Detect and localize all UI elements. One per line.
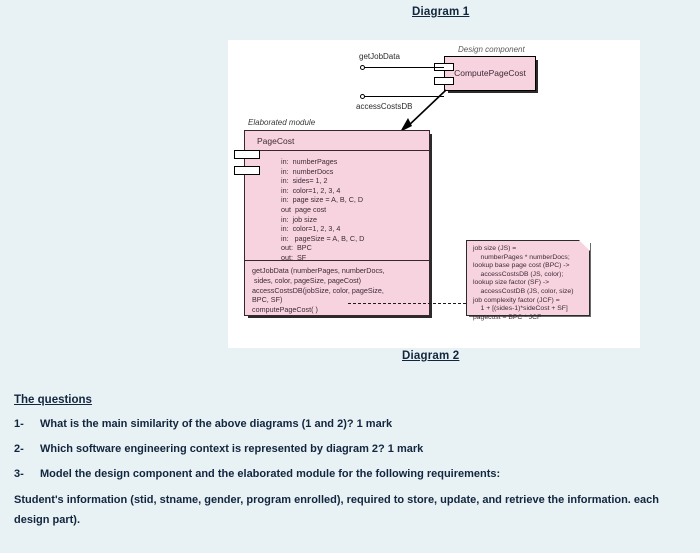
attribute-line: in: page size = A, B, C, D: [281, 195, 429, 205]
interface-socket-accesscostsdb: [360, 94, 365, 99]
question-3-requirements-paragraph: Student's information (stid, stname, gen…: [14, 490, 690, 530]
question-text: What is the main similarity of the above…: [40, 418, 392, 430]
operation-line: sides, color, pageSize, pageCost): [252, 276, 429, 286]
operation-line: computePageCost( ): [252, 305, 429, 315]
interface-socket-getjobdata: [360, 65, 365, 70]
refinement-arrow-icon: [398, 88, 450, 134]
elaborated-module-name: PageCost: [257, 136, 294, 146]
attribute-line: in: color=1, 2, 3, 4: [281, 224, 429, 234]
component-port-bottom: [434, 77, 454, 85]
diagram-canvas: Design component ComputePageCost getJobD…: [228, 40, 640, 348]
question-number: 2-: [14, 443, 40, 455]
question-text: Model the design component and the elabo…: [40, 468, 500, 480]
elaborated-module-box[interactable]: PageCost in: numberPages in: numberDocs …: [244, 130, 430, 316]
attribute-line: in: numberPages: [281, 157, 429, 167]
attribute-line: in: color=1, 2, 3, 4: [281, 186, 429, 196]
note-anchor-dashed-line: [348, 303, 466, 304]
module-port-bottom: [234, 166, 260, 175]
diagram-2-caption: Diagram 2: [402, 350, 459, 362]
question-number: 1-: [14, 418, 40, 430]
interface-label-getjobdata: getJobData: [359, 52, 400, 61]
design-component-box[interactable]: ComputePageCost: [444, 56, 536, 91]
note-fold-corner-icon: [579, 240, 590, 251]
note-line: lookup base page cost (BPC) ->: [473, 262, 586, 271]
design-component-stereotype-label: Design component: [458, 45, 525, 54]
operation-line: accessCostsDB(jobSize, color, pageSize,: [252, 286, 429, 296]
algorithm-note-box[interactable]: job size (JS) = numberPages * numberDocs…: [466, 240, 590, 316]
questions-heading: The questions: [14, 394, 92, 406]
note-line: lookup size factor (SF) ->: [473, 279, 586, 288]
question-number: 3-: [14, 468, 40, 480]
note-line: job complexity factor (JCF) =: [473, 297, 586, 306]
attribute-line: in: sides= 1, 2: [281, 176, 429, 186]
attribute-line: out: BPC: [281, 243, 429, 253]
elaborated-module-stereotype-label: Elaborated module: [248, 118, 315, 127]
note-line: job size (JS) =: [473, 245, 586, 254]
note-line: accessCostsDB (JS, color);: [473, 271, 586, 280]
attribute-line: in: pageSize = A, B, C, D: [281, 234, 429, 244]
design-component-name: ComputePageCost: [445, 68, 535, 78]
elaborated-module-attributes: in: numberPages in: numberDocs in: sides…: [245, 151, 429, 261]
diagram-1-caption: Diagram 1: [412, 6, 469, 18]
interface-lead-getjobdata: [362, 67, 444, 68]
note-line: pagecost = BPC * JCF: [473, 314, 586, 323]
module-port-top: [234, 150, 260, 159]
question-text: Which software engineering context is re…: [40, 443, 423, 455]
note-line: accessCostDB (JS, color, size): [473, 288, 586, 297]
attribute-line: in: job size: [281, 215, 429, 225]
question-item-3: 3-Model the design component and the ela…: [14, 468, 500, 480]
elaborated-module-operations: getJobData (numberPages, numberDocs, sid…: [245, 261, 429, 315]
note-line: 1 + [(sides-1)*sideCost + SF]: [473, 305, 586, 314]
attribute-line: in: numberDocs: [281, 167, 429, 177]
attribute-line: out page cost: [281, 205, 429, 215]
note-line: numberPages * numberDocs;: [473, 254, 586, 263]
elaborated-module-title-bar: PageCost: [245, 131, 429, 151]
operation-line: getJobData (numberPages, numberDocs,: [252, 266, 429, 276]
question-item-1: 1-What is the main similarity of the abo…: [14, 418, 392, 430]
question-item-2: 2-Which software engineering context is …: [14, 443, 423, 455]
